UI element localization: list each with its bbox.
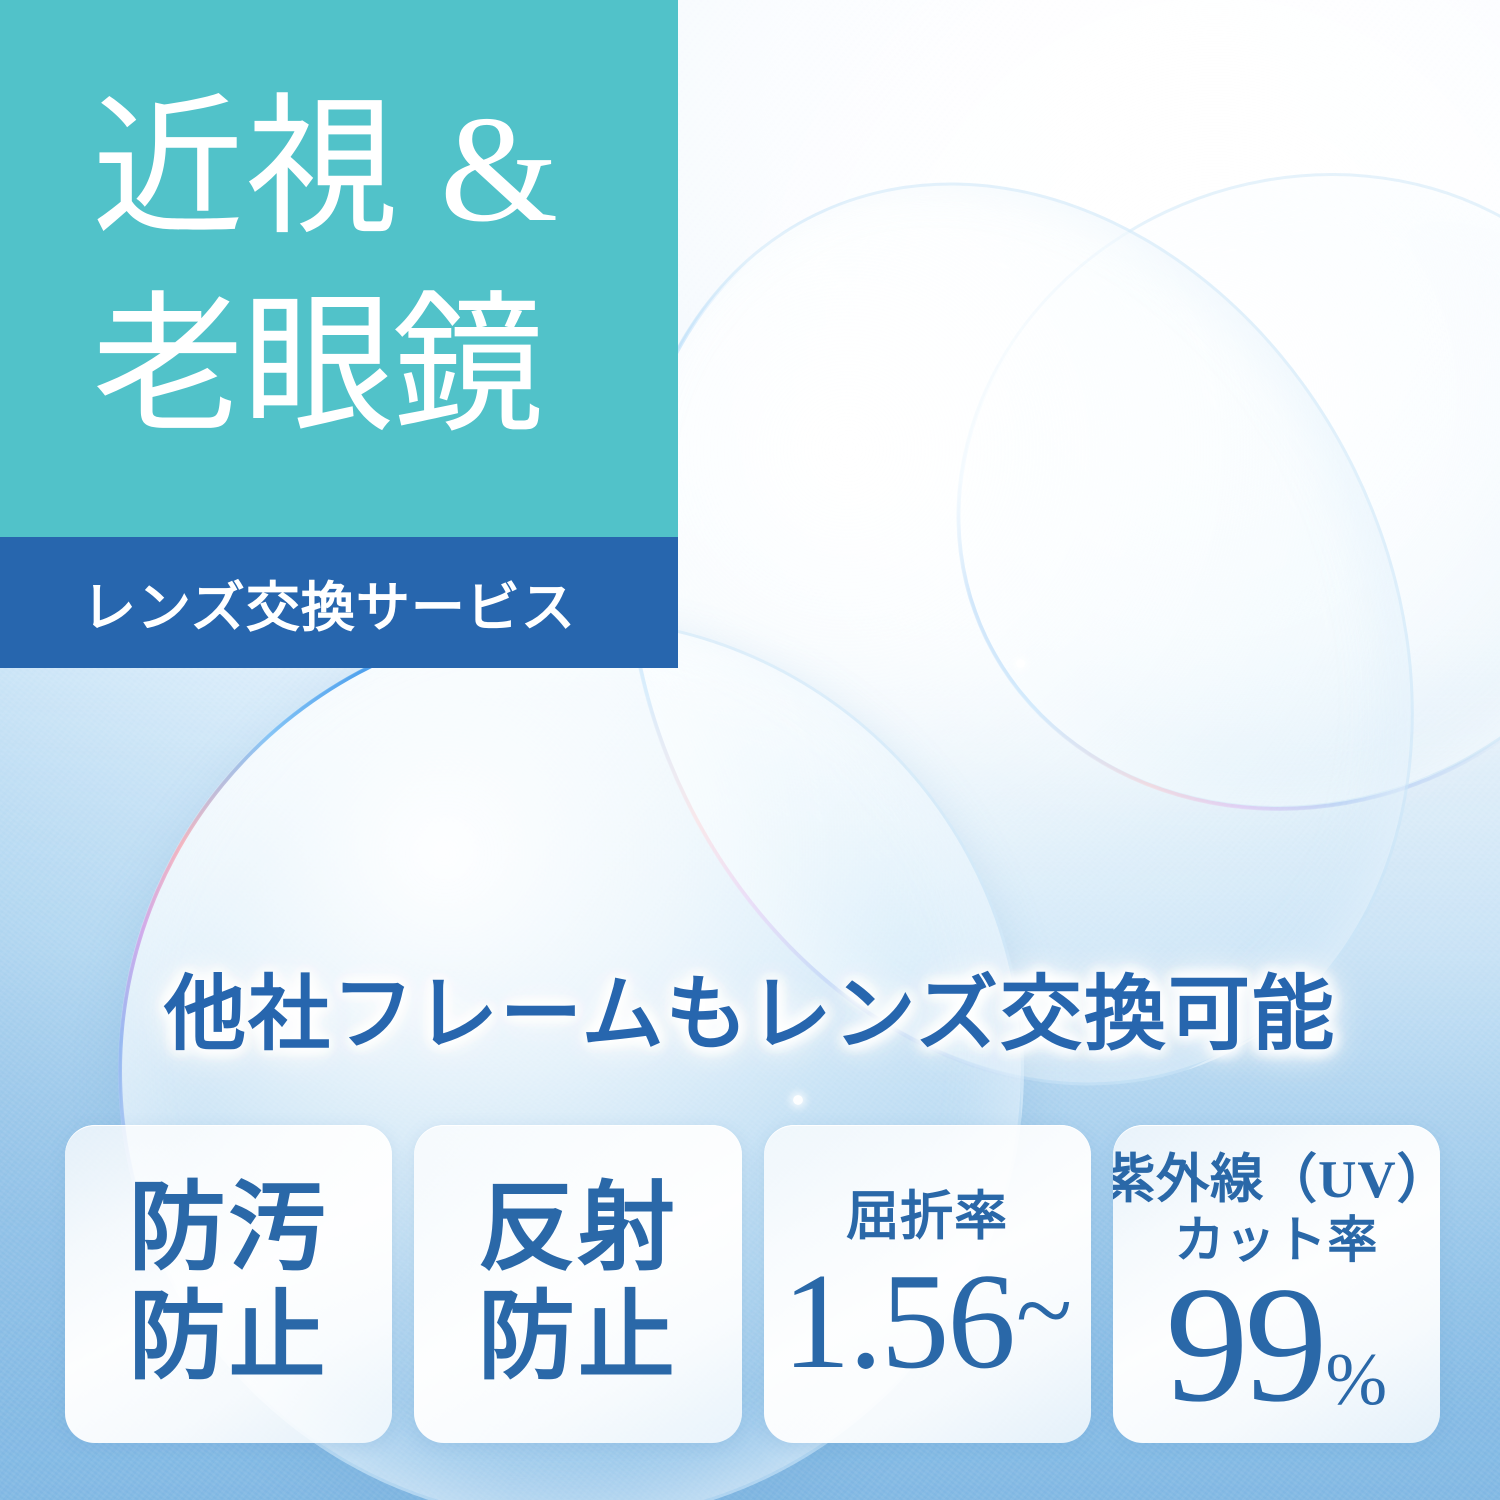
- uv-cut-value: 99: [1166, 1265, 1324, 1424]
- lens-specular-dot-upper: [1016, 659, 1025, 668]
- uv-cut-value-group: 99 %: [1166, 1265, 1388, 1424]
- service-band: レンズ交換サービス: [0, 537, 678, 668]
- feature-card-row: 防汚 防止 反射 防止 屈折率 1.56 ~ 紫外線（UV） カット率 99 %: [65, 1125, 1440, 1443]
- anti-stain-line-2: 防止: [129, 1284, 329, 1393]
- feature-card-anti-reflection: 反射 防止: [414, 1125, 741, 1443]
- headline-line-2: 老眼鏡: [92, 269, 678, 467]
- refractive-index-value-group: 1.56 ~: [782, 1256, 1072, 1388]
- anti-reflection-line-1: 反射: [478, 1175, 678, 1284]
- uv-cut-suffix: %: [1326, 1345, 1388, 1416]
- headline-block: 近視 & 老眼鏡: [0, 0, 678, 537]
- lens-specular-dot-lower: [793, 1095, 803, 1105]
- refractive-index-label: 屈折率: [846, 1187, 1008, 1248]
- anti-stain-line-1: 防汚: [129, 1175, 329, 1284]
- feature-card-uv-cut: 紫外線（UV） カット率 99 %: [1113, 1125, 1440, 1443]
- refractive-index-suffix: ~: [1016, 1261, 1072, 1361]
- tagline-text: 他社フレームもレンズ交換可能: [164, 947, 1336, 1066]
- service-band-label: レンズ交換サービス: [82, 563, 576, 642]
- refractive-index-value: 1.56: [782, 1256, 1014, 1388]
- lens-exchange-banner: 近視 & 老眼鏡 レンズ交換サービス 他社フレームもレンズ交換可能 防汚 防止 …: [0, 0, 1500, 1500]
- feature-card-refractive-index: 屈折率 1.56 ~: [764, 1125, 1091, 1443]
- feature-card-anti-stain: 防汚 防止: [65, 1125, 392, 1443]
- tagline-container: 他社フレームもレンズ交換可能: [0, 948, 1500, 1064]
- headline-line-1: 近視 &: [92, 71, 678, 269]
- uv-cut-label-line-1: 紫外線（UV）: [1113, 1150, 1440, 1211]
- anti-reflection-line-2: 防止: [478, 1284, 678, 1393]
